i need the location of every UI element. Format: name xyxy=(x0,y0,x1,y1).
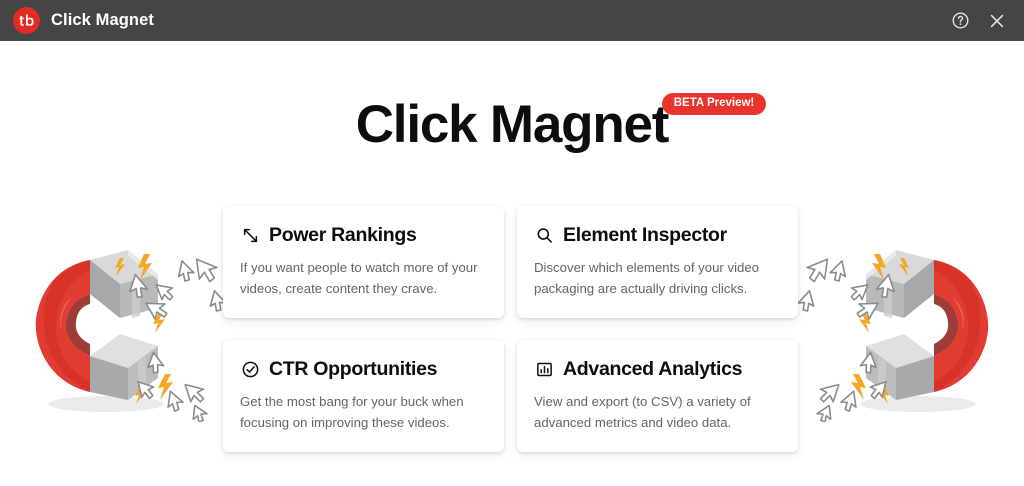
hero-section: Click Magnet BETA Preview! xyxy=(0,95,1024,155)
feature-cards-grid: Power Rankings If you want people to wat… xyxy=(223,206,798,452)
card-description: View and export (to CSV) a variety of ad… xyxy=(534,391,781,433)
brand: Click Magnet xyxy=(13,7,154,34)
check-circle-icon xyxy=(240,359,261,380)
card-header: Advanced Analytics xyxy=(534,358,781,381)
help-circle-icon[interactable] xyxy=(949,10,971,32)
feature-card-ctr-opportunities[interactable]: CTR Opportunities Get the most bang for … xyxy=(223,340,504,452)
feature-card-power-rankings[interactable]: Power Rankings If you want people to wat… xyxy=(223,206,504,318)
bar-chart-icon xyxy=(534,359,555,380)
card-title: Advanced Analytics xyxy=(563,358,742,381)
card-title: Power Rankings xyxy=(269,224,417,247)
card-title: CTR Opportunities xyxy=(269,358,437,381)
click-magnet-window: Click Magnet Click Magnet BETA Preview! xyxy=(0,0,1024,486)
card-header: Power Rankings xyxy=(240,224,487,247)
title-bar-actions xyxy=(949,10,1008,32)
card-header: Element Inspector xyxy=(534,224,781,247)
card-header: CTR Opportunities xyxy=(240,358,487,381)
hero-inner: Click Magnet BETA Preview! xyxy=(356,95,669,155)
card-description: Discover which elements of your video pa… xyxy=(534,257,781,299)
close-icon[interactable] xyxy=(986,10,1008,32)
card-description: Get the most bang for your buck when foc… xyxy=(240,391,487,433)
title-bar: Click Magnet xyxy=(0,0,1024,41)
card-description: If you want people to watch more of your… xyxy=(240,257,487,299)
diagonal-arrows-icon xyxy=(240,225,261,246)
window-title: Click Magnet xyxy=(51,11,154,30)
page-title: Click Magnet xyxy=(356,95,669,155)
beta-badge: BETA Preview! xyxy=(662,93,767,115)
feature-card-advanced-analytics[interactable]: Advanced Analytics View and export (to C… xyxy=(517,340,798,452)
magnet-attracting-cursors-illustration xyxy=(28,232,228,422)
magnet-attracting-cursors-illustration-mirrored xyxy=(796,232,996,422)
search-icon xyxy=(534,225,555,246)
card-title: Element Inspector xyxy=(563,224,727,247)
feature-card-element-inspector[interactable]: Element Inspector Discover which element… xyxy=(517,206,798,318)
tubebuddy-logo-icon xyxy=(13,7,40,34)
